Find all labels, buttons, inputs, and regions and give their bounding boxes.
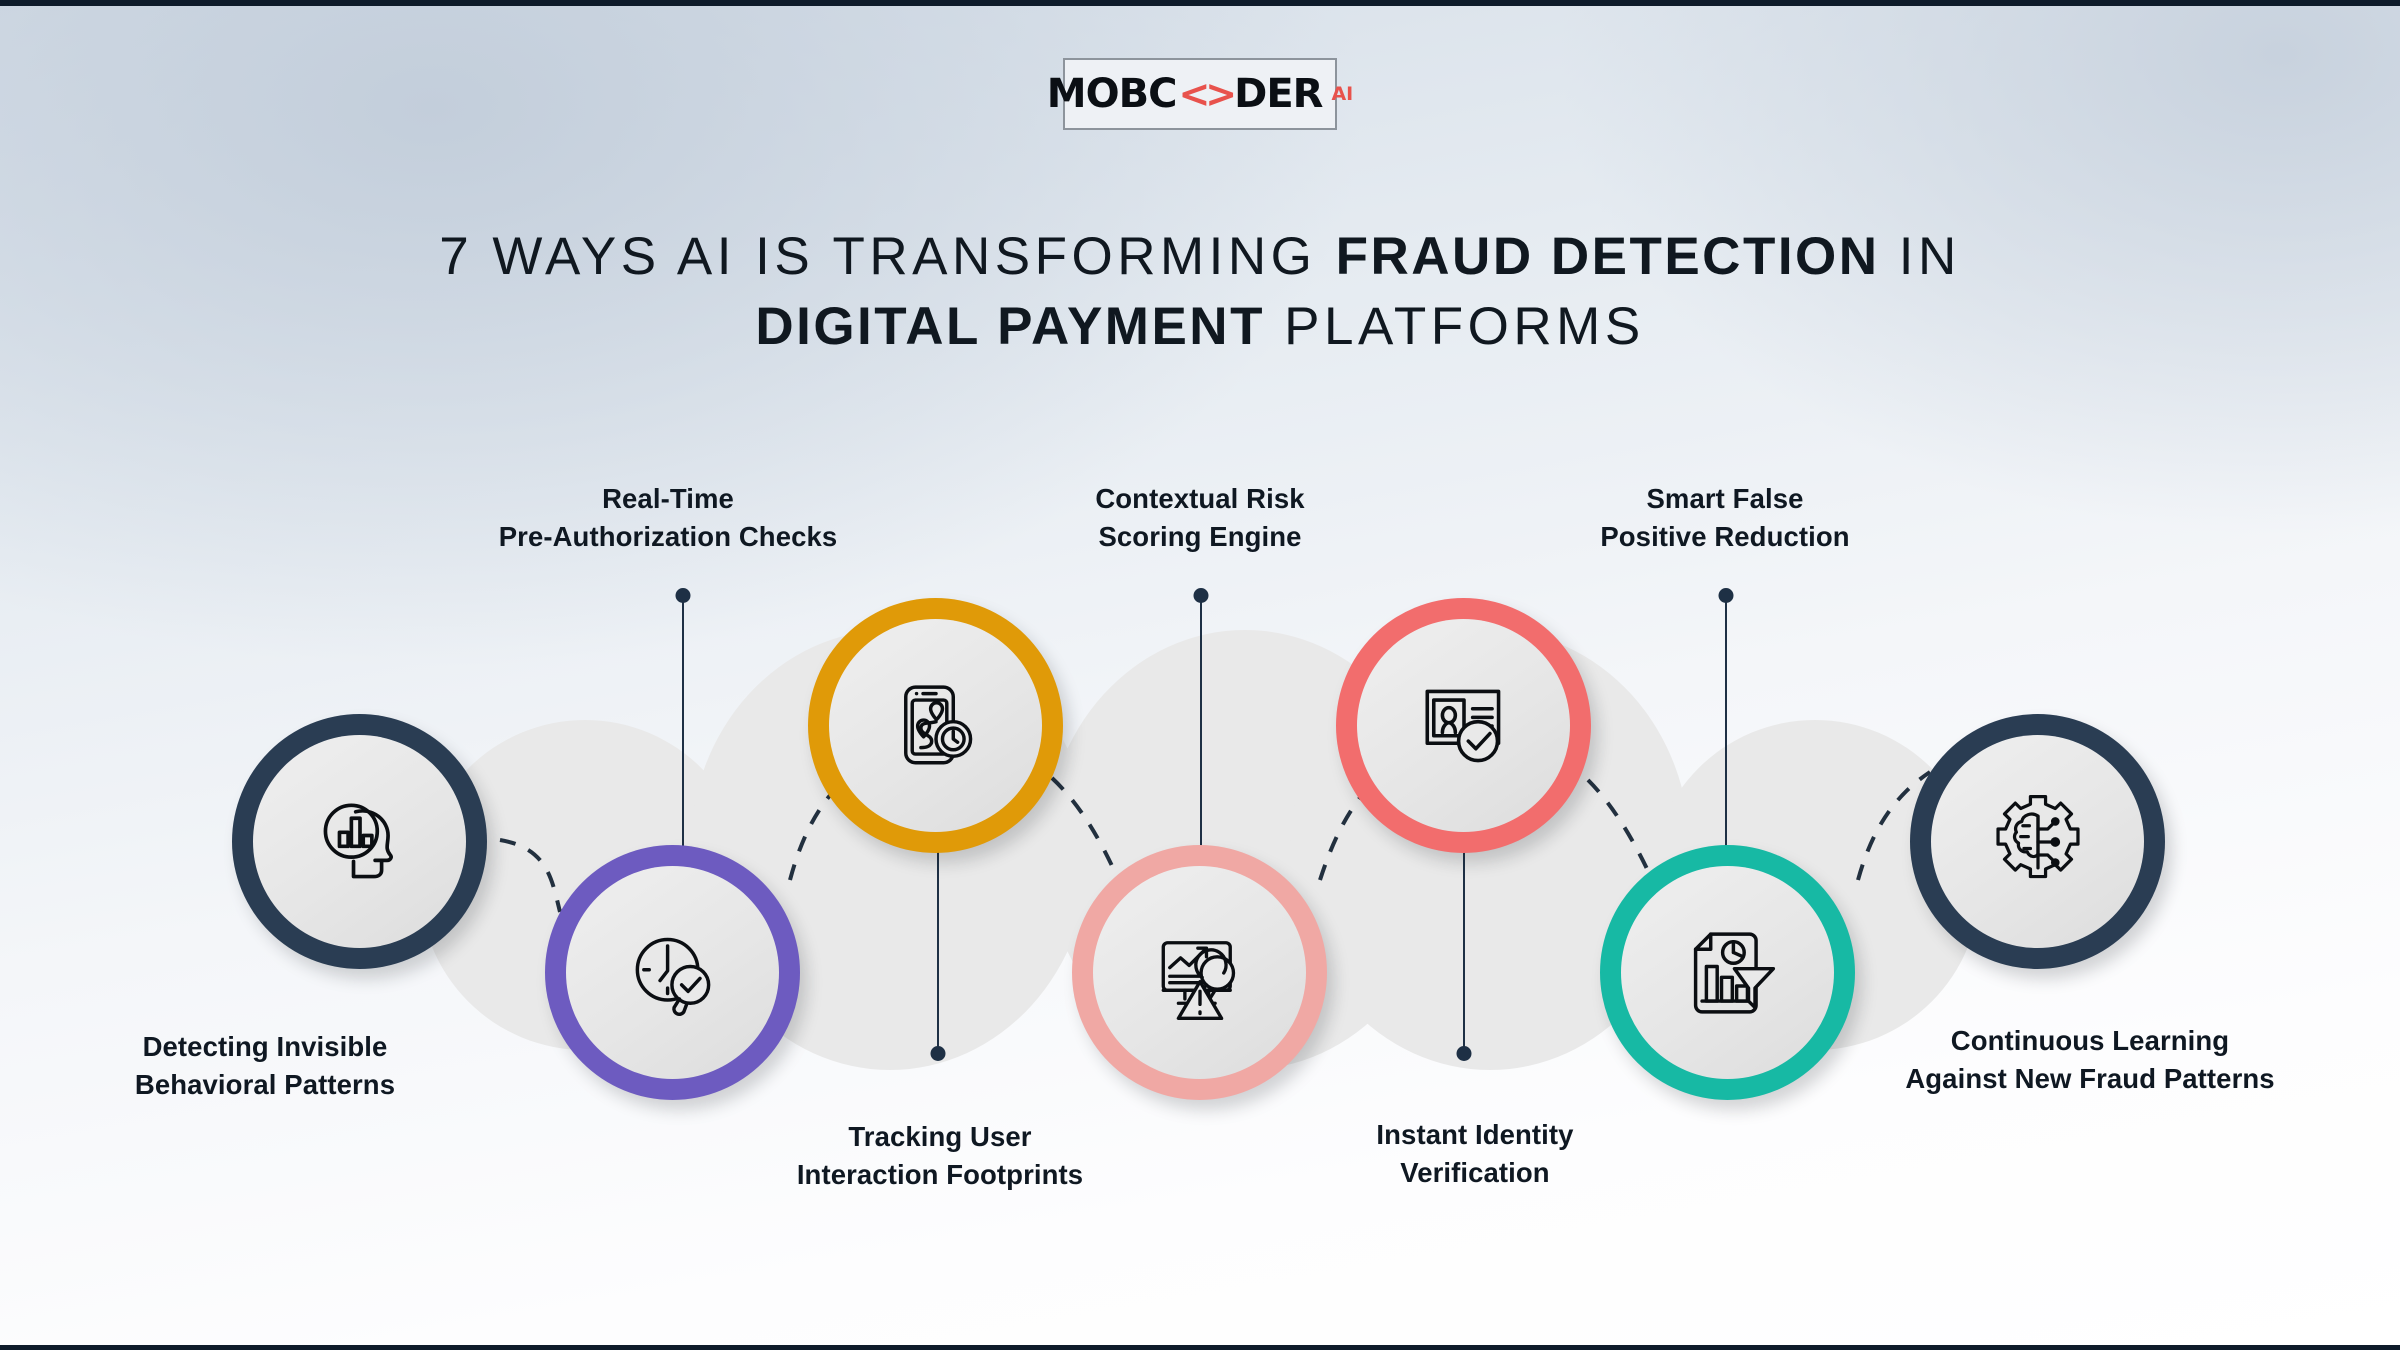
title-light-a: 7 WAYS AI IS TRANSFORMING — [439, 227, 1335, 286]
step-node-6-inner — [1621, 866, 1834, 1079]
infographic-canvas: MOBC<>DERAI 7 WAYS AI IS TRANSFORMING FR… — [0, 0, 2400, 1350]
connector-1-2 — [500, 840, 560, 912]
step-node-7[interactable] — [1910, 714, 2165, 969]
step-node-5[interactable] — [1336, 598, 1591, 853]
brand-logo: MOBC<>DERAI — [1063, 58, 1337, 130]
caption-step-4: Contextual Risk Scoring Engine — [1015, 480, 1385, 556]
step-node-7-inner — [1931, 735, 2144, 948]
step-node-4-inner — [1093, 866, 1306, 1079]
caption-step-1: Detecting Invisible Behavioral Patterns — [90, 1028, 440, 1104]
step-node-2[interactable] — [545, 845, 800, 1100]
report-funnel-chart-icon — [1674, 919, 1782, 1027]
title-light-platforms: PLATFORMS — [1265, 297, 1645, 356]
caption-step-7: Continuous Learning Against New Fraud Pa… — [1860, 1022, 2320, 1098]
clock-check-magnifier-icon — [619, 919, 727, 1027]
step-node-6[interactable] — [1600, 845, 1855, 1100]
step-node-3[interactable] — [808, 598, 1063, 853]
id-card-check-icon — [1410, 672, 1518, 780]
code-chevrons-icon: <> — [1176, 75, 1234, 113]
step-node-3-inner — [829, 619, 1042, 832]
gear-brain-circuit-icon — [1984, 788, 2092, 896]
logo-part1: MOBC — [1047, 74, 1177, 114]
page-title: 7 WAYS AI IS TRANSFORMING FRAUD DETECTIO… — [0, 222, 2400, 363]
connector-5-6 — [1588, 780, 1656, 888]
caption-step-2: Real-Time Pre-Authorization Checks — [478, 480, 858, 556]
process-diagram: Detecting Invisible Behavioral Patterns … — [0, 0, 2400, 1350]
step-node-2-inner — [566, 866, 779, 1079]
caption-step-6: Smart False Positive Reduction — [1545, 480, 1905, 556]
logo-part2: DER — [1234, 74, 1322, 114]
title-light-in: IN — [1880, 227, 1961, 286]
stem-caption-2 — [675, 594, 691, 860]
caption-step-5: Instant Identity Verification — [1295, 1116, 1655, 1192]
phone-location-clock-icon — [882, 672, 990, 780]
caption-step-3: Tracking User Interaction Footprints — [740, 1118, 1140, 1194]
head-bar-chart-icon — [306, 788, 414, 896]
monitor-chart-alert-icon — [1146, 919, 1254, 1027]
stem-caption-4 — [1193, 594, 1209, 860]
title-line-1: 7 WAYS AI IS TRANSFORMING FRAUD DETECTIO… — [0, 222, 2400, 292]
title-bold-fraud: FRAUD DETECTION — [1336, 227, 1880, 286]
logo-wordmark: MOBC<>DERAI — [1047, 74, 1353, 114]
step-node-5-inner — [1357, 619, 1570, 832]
connector-3-4 — [1052, 778, 1122, 888]
logo-ai-suffix: AI — [1331, 85, 1353, 104]
step-node-4[interactable] — [1072, 845, 1327, 1100]
step-node-1-inner — [253, 735, 466, 948]
title-bold-digital: DIGITAL PAYMENT — [755, 297, 1265, 356]
stem-caption-6 — [1718, 594, 1734, 860]
title-line-2: DIGITAL PAYMENT PLATFORMS — [0, 292, 2400, 362]
step-node-1[interactable] — [232, 714, 487, 969]
